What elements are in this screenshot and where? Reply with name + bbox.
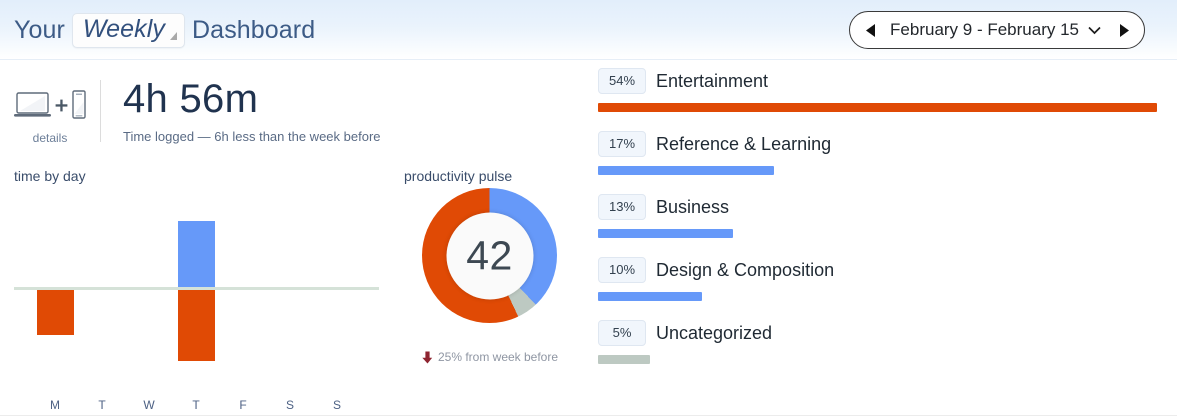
category-bar [598, 103, 1157, 112]
category-bar [598, 229, 733, 238]
category-row[interactable]: 17%Reference & Learning [598, 131, 1157, 175]
day-label-1: T [98, 398, 105, 412]
category-name: Design & Composition [656, 260, 834, 281]
category-name: Business [656, 197, 729, 218]
category-bar-track [598, 103, 1157, 112]
category-header: 5%Uncategorized [598, 320, 1157, 346]
time-logged-block: 4h 56m Time logged — 6h less than the we… [101, 78, 381, 144]
category-name: Uncategorized [656, 323, 772, 344]
category-bar [598, 355, 650, 364]
dashboard-page: Your Weekly Dashboard February 9 - Febru… [0, 0, 1177, 416]
caret-left-icon[interactable] [857, 17, 883, 43]
day-label-3: T [192, 398, 199, 412]
category-header: 54%Entertainment [598, 68, 1157, 94]
caret-down-icon [170, 32, 177, 40]
category-bar [598, 166, 774, 175]
category-bar-track [598, 355, 1157, 364]
category-percent-badge: 10% [598, 257, 646, 283]
day-label-2: W [143, 398, 154, 412]
time-logged-value: 4h 56m [123, 78, 381, 120]
category-header: 13%Business [598, 194, 1157, 220]
arrow-down-icon [422, 351, 433, 364]
category-percent-badge: 54% [598, 68, 646, 94]
date-range-label: February 9 - February 15 [883, 20, 1088, 40]
bar-productive-3[interactable] [178, 221, 215, 287]
productivity-donut[interactable]: 42 [422, 188, 557, 323]
period-selector-label: Weekly [83, 16, 165, 44]
category-row[interactable]: 10%Design & Composition [598, 257, 1157, 301]
details-link[interactable]: details [0, 131, 100, 145]
productivity-pulse: productivity pulse 42 25% from week befo… [390, 60, 590, 415]
time-by-day-axis-labels: MTWTFSS [14, 398, 379, 416]
date-range-navigator[interactable]: February 9 - February 15 [849, 11, 1145, 49]
dashboard-header: Your Weekly Dashboard February 9 - Febru… [0, 0, 1177, 60]
laptop-plus-phone-icon [0, 88, 100, 122]
period-selector[interactable]: Weekly [72, 13, 185, 48]
category-row[interactable]: 5%Uncategorized [598, 320, 1157, 364]
category-percent-badge: 13% [598, 194, 646, 220]
category-percent-badge: 5% [598, 320, 646, 346]
day-label-6: S [333, 398, 341, 412]
productivity-trend: 25% from week before [390, 350, 590, 364]
category-header: 17%Reference & Learning [598, 131, 1157, 157]
caret-right-icon[interactable] [1111, 17, 1137, 43]
day-label-5: S [286, 398, 294, 412]
device-filter[interactable]: details [0, 78, 100, 145]
chart-zero-line [14, 287, 379, 290]
time-summary: details 4h 56m Time logged — 6h less tha… [0, 78, 381, 145]
donut-center: 42 [446, 212, 533, 299]
page-title-lead: Your [14, 16, 65, 45]
page-title-tail: Dashboard [192, 16, 315, 45]
left-column: details 4h 56m Time logged — 6h less tha… [0, 60, 575, 415]
day-label-4: F [239, 398, 246, 412]
chevron-down-icon[interactable] [1088, 26, 1101, 35]
bar-distracting-3[interactable] [178, 289, 215, 361]
dashboard-content: details 4h 56m Time logged — 6h less tha… [0, 60, 1177, 415]
day-label-0: M [50, 398, 60, 412]
category-row[interactable]: 13%Business [598, 194, 1157, 238]
category-percent-badge: 17% [598, 131, 646, 157]
category-name: Reference & Learning [656, 134, 831, 155]
time-by-day-chart [14, 188, 379, 388]
category-bar-track [598, 229, 1157, 238]
productivity-trend-label: 25% from week before [438, 350, 558, 364]
productivity-pulse-title: productivity pulse [404, 168, 512, 184]
category-bar-track [598, 166, 1157, 175]
time-by-day-title: time by day [14, 168, 86, 184]
productivity-score: 42 [466, 235, 513, 276]
category-name: Entertainment [656, 71, 768, 92]
category-list: 54%Entertainment17%Reference & Learning1… [598, 60, 1157, 415]
category-bar-track [598, 292, 1157, 301]
category-row[interactable]: 54%Entertainment [598, 68, 1157, 112]
time-logged-caption: Time logged — 6h less than the week befo… [123, 129, 381, 144]
bar-distracting-0[interactable] [37, 289, 74, 335]
category-bar [598, 292, 702, 301]
page-title: Your Weekly Dashboard [14, 13, 315, 48]
category-header: 10%Design & Composition [598, 257, 1157, 283]
